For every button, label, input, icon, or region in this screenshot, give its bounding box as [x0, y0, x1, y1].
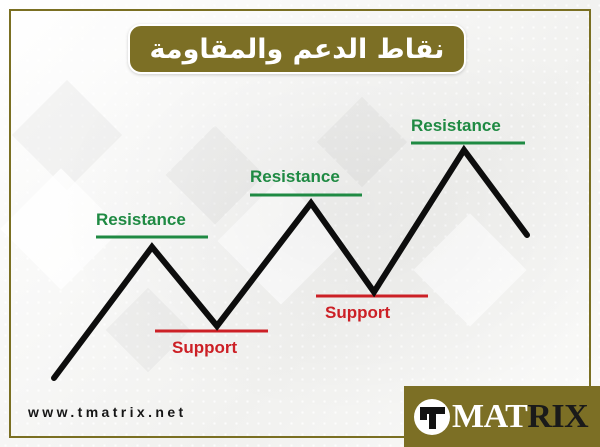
resistance-label: Resistance [96, 211, 186, 228]
support-label: Support [172, 339, 237, 356]
support-label: Support [325, 304, 390, 321]
brand-wordmark-first: MAT [452, 398, 527, 435]
circle-t-icon [414, 399, 450, 435]
brand-wordmark: MATRIX [452, 400, 588, 434]
brand-wordmark-second: RIX [527, 398, 588, 435]
circle-t-icon-stem [429, 407, 436, 429]
brand-logo: MATRIX [404, 386, 600, 447]
infographic-canvas: ResistanceSupportResistanceSupportResist… [0, 0, 600, 447]
title-banner: نقاط الدعم والمقاومة [128, 24, 466, 74]
circle-t-icon-hook [420, 407, 427, 420]
site-url-text: www.tmatrix.net [28, 404, 187, 420]
resistance-label: Resistance [250, 168, 340, 185]
page-title: نقاط الدعم والمقاومة [150, 36, 445, 63]
resistance-label: Resistance [411, 117, 501, 134]
